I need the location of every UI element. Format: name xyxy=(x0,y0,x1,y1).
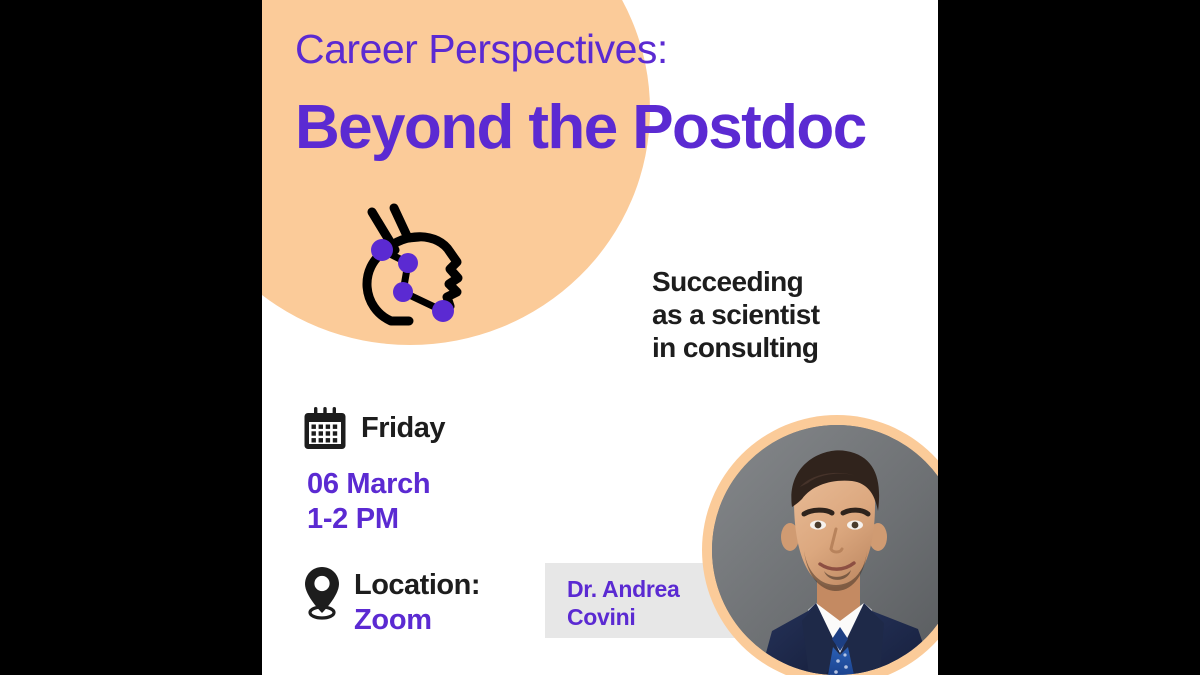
date-row: Friday xyxy=(302,405,562,451)
page-title: Beyond the Postdoc xyxy=(295,92,866,163)
event-date-value: 06 March xyxy=(307,467,562,502)
poster-canvas: Career Perspectives: Beyond the Postdoc xyxy=(262,0,938,675)
event-day-label: Friday xyxy=(361,412,445,445)
event-date-block: Friday 06 March 1-2 PM xyxy=(302,405,562,538)
speaker-portrait-ring xyxy=(702,415,938,675)
event-date-lines: 06 March 1-2 PM xyxy=(307,467,562,538)
event-location-value: Zoom xyxy=(354,603,480,638)
poster-kicker: Career Perspectives: xyxy=(295,26,668,73)
event-location-text: Location: Zoom xyxy=(354,565,480,638)
poster-subtitle: Succeeding as a scientist in consulting xyxy=(652,265,882,364)
poster-root: Career Perspectives: Beyond the Postdoc xyxy=(0,0,1200,675)
letterbox-bar-left xyxy=(0,0,262,675)
event-location-block: Location: Zoom xyxy=(302,565,562,638)
head-network-icon xyxy=(346,190,506,340)
event-time-value: 1-2 PM xyxy=(307,502,562,537)
map-pin-icon xyxy=(302,565,342,621)
speaker-name: Dr. Andrea Covini xyxy=(567,576,679,631)
calendar-icon xyxy=(302,405,348,451)
letterbox-bar-right xyxy=(938,0,1200,675)
speaker-headshot xyxy=(712,425,938,675)
event-location-label: Location: xyxy=(354,568,480,603)
